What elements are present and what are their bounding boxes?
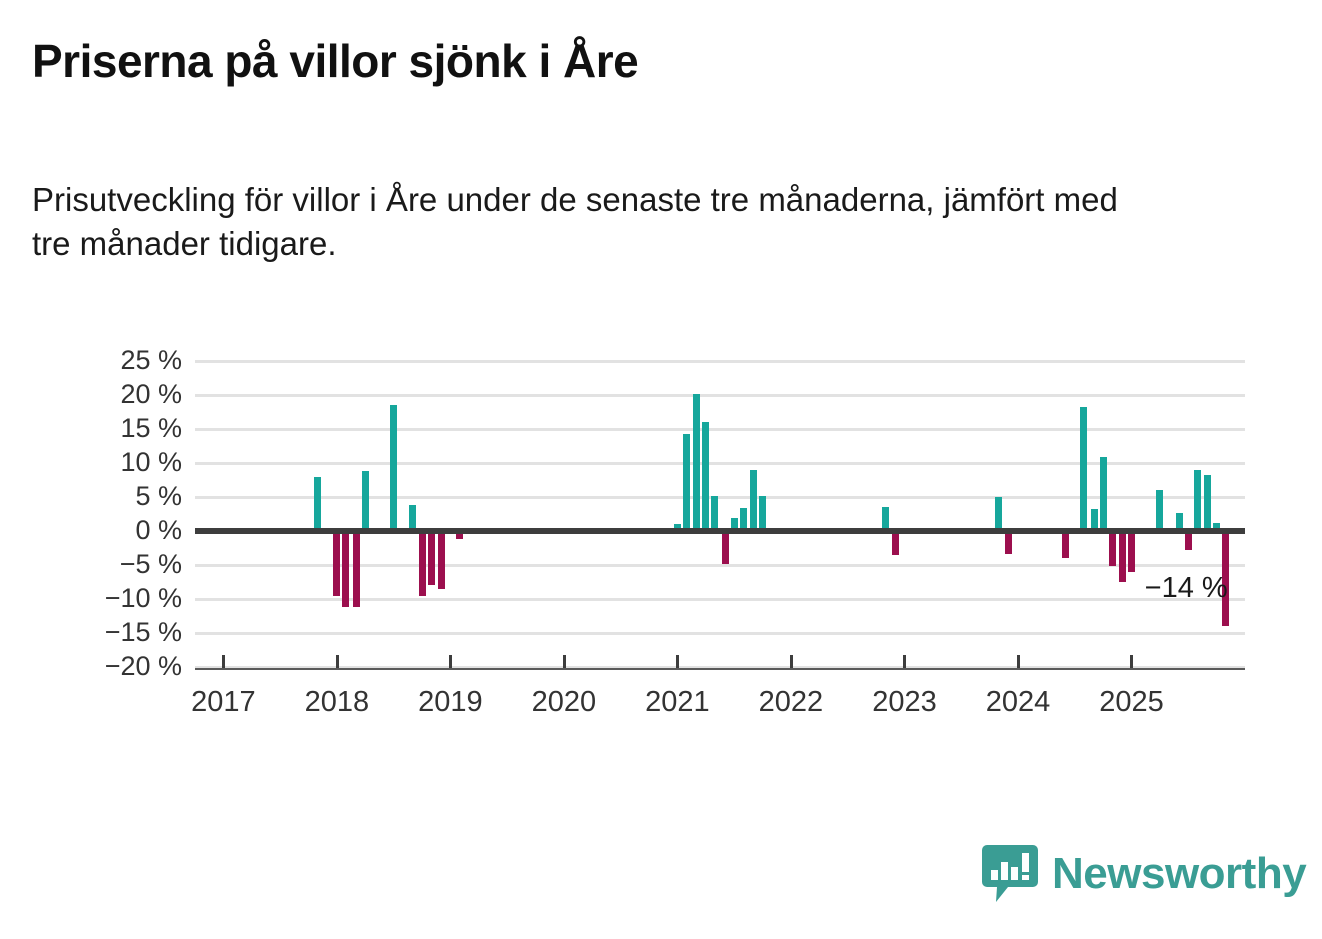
x-axis-tick bbox=[790, 655, 793, 668]
bar bbox=[390, 405, 397, 531]
x-axis-tick-label: 2020 bbox=[504, 686, 624, 719]
x-axis-tick-label: 2024 bbox=[958, 686, 1078, 719]
bar bbox=[892, 531, 899, 555]
gridline bbox=[195, 462, 1245, 465]
bar bbox=[702, 422, 709, 531]
x-axis-tick-label: 2018 bbox=[277, 686, 397, 719]
x-axis-tick bbox=[563, 655, 566, 668]
newsworthy-wordmark: Newsworthy bbox=[1052, 852, 1306, 896]
bar bbox=[1005, 531, 1012, 554]
x-axis-tick-label: 2025 bbox=[1071, 686, 1191, 719]
bar bbox=[1204, 475, 1211, 531]
bar bbox=[419, 531, 426, 596]
gridline bbox=[195, 360, 1245, 363]
bar bbox=[995, 497, 1002, 531]
y-axis-tick-label: 10 % bbox=[62, 449, 182, 476]
x-axis-tick bbox=[222, 655, 225, 668]
bar-chart-bubble-icon bbox=[982, 845, 1038, 903]
bar bbox=[438, 531, 445, 589]
gridline bbox=[195, 428, 1245, 431]
y-axis-tick-label: −10 % bbox=[62, 585, 182, 612]
x-axis-tick-label: 2019 bbox=[390, 686, 510, 719]
y-axis-tick-label: −20 % bbox=[62, 653, 182, 680]
bar bbox=[353, 531, 360, 607]
x-axis-tick bbox=[336, 655, 339, 668]
bar bbox=[711, 496, 718, 531]
bar bbox=[342, 531, 349, 607]
bar bbox=[1128, 531, 1135, 572]
bar bbox=[1194, 470, 1201, 531]
bar bbox=[1100, 457, 1107, 531]
y-axis-tick-label: 0 % bbox=[62, 517, 182, 544]
x-axis-tick bbox=[1130, 655, 1133, 668]
y-axis-tick-label: −5 % bbox=[62, 551, 182, 578]
x-axis-tick-label: 2022 bbox=[731, 686, 851, 719]
bar-chart: 25 %20 %15 %10 %5 %0 %−5 %−10 %−15 %−20 … bbox=[0, 330, 1322, 730]
newsworthy-logo: Newsworthy bbox=[982, 845, 1306, 903]
x-axis-tick-label: 2023 bbox=[844, 686, 964, 719]
bar bbox=[759, 496, 766, 531]
x-axis-tick-label: 2021 bbox=[617, 686, 737, 719]
bar bbox=[1080, 407, 1087, 531]
zero-baseline bbox=[195, 528, 1245, 534]
y-axis-tick-label: 15 % bbox=[62, 415, 182, 442]
y-axis-tick-label: 25 % bbox=[62, 347, 182, 374]
x-axis-tick bbox=[1017, 655, 1020, 668]
bar bbox=[683, 434, 690, 531]
x-axis-tick-label: 2017 bbox=[163, 686, 283, 719]
gridline bbox=[195, 632, 1245, 635]
x-axis-tick bbox=[903, 655, 906, 668]
bar bbox=[333, 531, 340, 596]
bar bbox=[1109, 531, 1116, 566]
x-axis-tick bbox=[676, 655, 679, 668]
page-title: Priserna på villor sjönk i Åre bbox=[32, 36, 638, 87]
value-annotation: −14 % bbox=[1028, 572, 1228, 605]
gridline bbox=[195, 394, 1245, 397]
bar bbox=[428, 531, 435, 585]
y-axis-tick-label: 5 % bbox=[62, 483, 182, 510]
x-axis-tick bbox=[449, 655, 452, 668]
y-axis-tick-label: 20 % bbox=[62, 381, 182, 408]
gridline bbox=[195, 496, 1245, 499]
bar bbox=[722, 531, 729, 564]
bar bbox=[362, 471, 369, 531]
bar bbox=[314, 477, 321, 531]
page-subtitle: Prisutveckling för villor i Åre under de… bbox=[32, 178, 1152, 265]
bar bbox=[693, 394, 700, 531]
bar bbox=[1062, 531, 1069, 558]
bar bbox=[750, 470, 757, 531]
y-axis-tick-label: −15 % bbox=[62, 619, 182, 646]
bar bbox=[1156, 490, 1163, 531]
x-axis-line bbox=[195, 668, 1245, 670]
